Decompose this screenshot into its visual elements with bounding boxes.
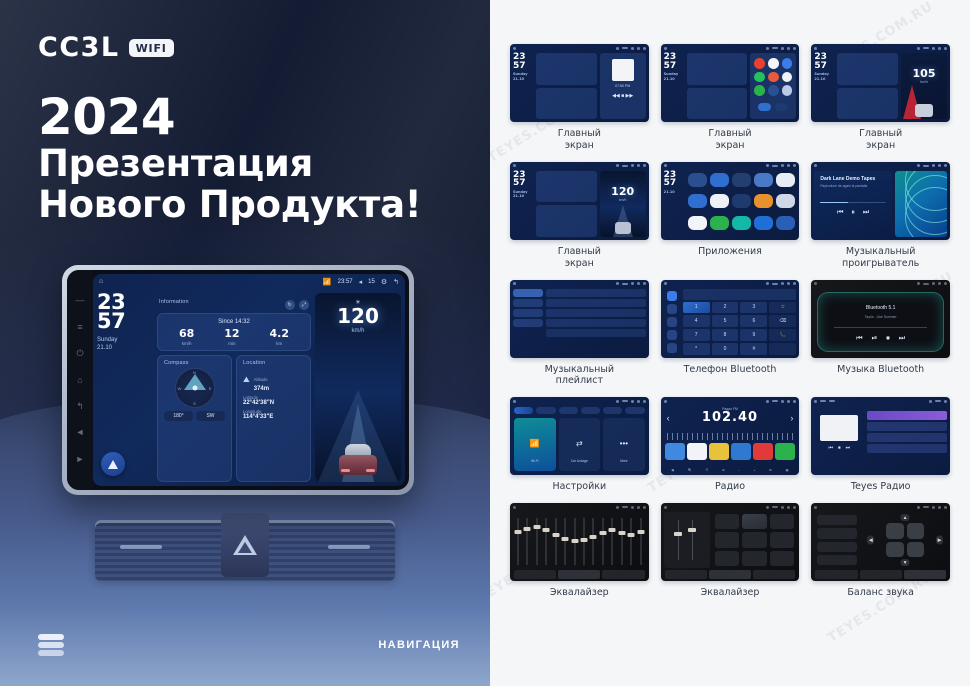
preset-1 (665, 443, 685, 460)
minus-icon: − (738, 468, 740, 472)
compass-center-dot (192, 386, 197, 391)
preset-5 (753, 443, 773, 460)
favorite-icon[interactable]: ☆ (769, 302, 796, 314)
power-hw-icon[interactable]: ⏻ (75, 348, 86, 359)
balance-up-icon[interactable]: ▲ (901, 514, 910, 521)
hardware-button-column[interactable]: — ≡ ⏻ ⌂ ↰ ◄ ► (67, 270, 93, 490)
screen-thumbnail[interactable]: 2357Sunday21.10 07:50 PM ◀◀ ■ ▶▶ (510, 44, 649, 122)
gallery-item[interactable]: Эквалайзер (661, 503, 800, 599)
eq-tab-1 (514, 570, 556, 579)
thumb-caption: Музыкальныйпроигрыватель (842, 246, 919, 270)
gallery-item[interactable]: ⏮⏹⏭ Teyes Радио (811, 397, 950, 493)
headline-line-1: Презентация (38, 143, 421, 184)
bt-progress[interactable] (834, 327, 927, 328)
key-8[interactable]: 8 (712, 329, 739, 341)
location-title: Location (243, 360, 304, 366)
thumb-caption: Эквалайзер (550, 587, 609, 599)
screen-thumbnail[interactable]: ▲ ▼ ◀ ▶ (811, 503, 950, 581)
compass-mark-n: N (193, 370, 196, 375)
screen-thumbnail[interactable]: Радио FM 102.40 ‹ › ▣🔍 (661, 397, 800, 475)
car-dashboard: — ≡ ⏻ ⌂ ↰ ◄ ► ⌂ 📶 23:57 (0, 245, 490, 686)
frequency-scale[interactable] (667, 433, 794, 440)
settings-icon: ⚙ (769, 468, 772, 472)
brand-model: CC3L (38, 32, 120, 63)
thumb-widgets (536, 53, 597, 119)
thumb-speed-unit: km/h (600, 198, 646, 202)
balance-pad[interactable]: ▲ ▼ ◀ ▶ (863, 512, 947, 568)
stop-icon: ⏹ (838, 445, 841, 451)
stop-icon[interactable]: ⏹ (886, 335, 890, 343)
compass-mark-w: W (178, 386, 182, 391)
thumb-speed-value: 120 (600, 185, 646, 198)
stat-value: 68 (179, 328, 194, 339)
layers-icon (38, 634, 64, 656)
menu-hw-icon[interactable]: ► (75, 454, 86, 465)
car-3d-model (339, 444, 377, 476)
eq-tab-3 (602, 570, 644, 579)
key-star[interactable]: * (683, 343, 710, 355)
back-icon[interactable]: ↰ (393, 278, 399, 286)
volume-up-hw-icon[interactable]: ≡ (75, 322, 86, 333)
bluetooth-icon: ⇄ (559, 439, 601, 448)
thumb-clock: 235721.10 (664, 171, 684, 237)
playlist-rows[interactable] (546, 289, 646, 355)
stat-unit: km/h (179, 341, 194, 346)
presentation-slide: CC3L WIFI 2024 Презентация Нового Продук… (0, 0, 970, 686)
mic-hw-icon[interactable]: ◄ (75, 427, 86, 438)
eq-band (590, 514, 597, 569)
teyes-station-list[interactable] (867, 411, 947, 472)
gallery-item[interactable]: 1 2 3 ☆ 4 5 6 ⌫ 7 8 9 📞 (661, 280, 800, 388)
apps-icon: ▦ (786, 468, 789, 472)
vent-light-right (328, 545, 370, 549)
teyes-controls[interactable]: ⏮⏹⏭ (814, 445, 864, 451)
track-title: Dark Lane Demo Tapes (820, 176, 886, 182)
track-artist: Reproduce de again la pantalla (820, 184, 886, 188)
preset-key (770, 532, 795, 547)
preset-key (715, 551, 740, 566)
vent-light-left (120, 545, 162, 549)
eq-band (609, 514, 616, 569)
tab-wifi (514, 407, 533, 414)
key-5[interactable]: 5 (712, 315, 739, 327)
clock-date: 21.10 (97, 344, 153, 352)
settings-tile-wifi[interactable]: 📶 Wi-Fi (514, 418, 556, 471)
unit-screen[interactable]: ⌂ 📶 23:57 ◂ 15 ⚙ ↰ (93, 274, 405, 486)
thumb-caption: Эквалайзер (701, 587, 760, 599)
thumb-caption: Главныйэкран (558, 128, 601, 152)
clock-day: Sunday (97, 336, 153, 344)
eq-band (599, 514, 606, 569)
thumb-app-grid[interactable] (687, 171, 797, 237)
play-pause-icon[interactable]: ⏯ (872, 335, 878, 343)
settings-tiles[interactable]: 📶 Wi-Fi ⇄ Car Linkage ••• More (514, 418, 645, 471)
compass-mark-e: E (209, 386, 212, 391)
preset-key (770, 551, 795, 566)
compass-mark-s: S (193, 401, 196, 406)
previous-icon[interactable]: ⏮ (856, 335, 862, 343)
stat-value: 4.2 (270, 328, 290, 339)
preset-key (742, 514, 767, 529)
preset-3 (709, 443, 729, 460)
screen-thumbnail[interactable]: Bluetooth 5.1 Tayris - Like Summer ⏮ ⏯ ⏹… (811, 280, 950, 358)
key-6[interactable]: 6 (740, 315, 767, 327)
radio-presets[interactable] (665, 443, 796, 460)
thumb-caption: Радио (715, 481, 745, 493)
eq-band (580, 514, 587, 569)
location-widget[interactable]: Location ⛰ Altitude 374m (236, 355, 311, 482)
eq-band (533, 514, 540, 569)
screen-thumbnail[interactable]: 2357Sunday21.10 120 km/h (510, 162, 649, 240)
previous-icon[interactable]: ⏮ (837, 209, 843, 217)
balance-presets[interactable] (814, 512, 860, 568)
eq-band (523, 514, 530, 569)
seat-rear-left (886, 542, 904, 558)
compass-direction: SW (196, 411, 225, 421)
equalizer-sliders[interactable] (514, 514, 645, 569)
plus-icon: + (754, 468, 756, 472)
compass-location-row: Compass N E S W (157, 355, 311, 482)
key-2[interactable]: 2 (712, 302, 739, 314)
preset-key (715, 514, 740, 529)
player-controls[interactable]: ⏮ ⏸ ⏭ (820, 209, 886, 217)
headline-year: 2024 (38, 92, 421, 143)
preset-6 (775, 443, 795, 460)
stat-value: 12 (224, 328, 239, 339)
stat-item: 4.2 km (270, 328, 290, 346)
number-field[interactable] (683, 289, 797, 300)
screen-thumbnail[interactable]: Dark Lane Demo Tapes Reproduce de again … (811, 162, 950, 240)
preset-key (715, 532, 740, 547)
status-time: 23:57 (338, 279, 353, 285)
compass-title: Compass (164, 360, 225, 366)
trip-card: Since 14:32 68 km/h 12 (157, 313, 311, 351)
thumb-clock: 2357Sunday21.10 (513, 171, 533, 237)
head-unit: — ≡ ⏻ ⌂ ↰ ◄ ► ⌂ 📶 23:57 (62, 265, 414, 495)
eq-tab-2 (709, 570, 751, 579)
car-body (339, 455, 377, 475)
equalizer-toolbar[interactable] (514, 570, 645, 579)
trip-since: Since 14:32 (164, 319, 304, 325)
eq-band (561, 514, 568, 569)
volume-icon[interactable]: ◂ (359, 278, 363, 286)
band-icon: ▣ (672, 468, 675, 472)
bal-tab-2 (860, 570, 902, 579)
home-icon[interactable]: ⌂ (99, 278, 103, 285)
gallery-item[interactable]: 2357Sunday21.10 120 km/h Главныйэкран (510, 162, 649, 270)
bluetooth-music-card: Bluetooth 5.1 Tayris - Like Summer ⏮ ⏯ ⏹… (818, 293, 943, 351)
navigation-arrow-icon (108, 460, 118, 469)
home-hw-icon[interactable]: ⌂ (75, 375, 86, 386)
eq-band (618, 514, 625, 569)
altitude-label: Altitude (254, 377, 268, 382)
information-title: Information (159, 299, 189, 305)
gallery-item[interactable]: Музыкальныйплейлист (510, 280, 649, 388)
key-4[interactable]: 4 (683, 315, 710, 327)
thumb-caption: Teyes Радио (851, 481, 911, 493)
speed-widget[interactable]: ☀ 120 km/h (315, 293, 401, 482)
screen-thumbnail[interactable] (510, 503, 649, 581)
eq-tab-1 (665, 570, 707, 579)
thumb-caption: Музыкальныйплейлист (545, 364, 615, 388)
next-icon: ⏭ (846, 445, 851, 451)
compass-dial: N E S W (175, 368, 215, 408)
backspace-icon[interactable]: ⌫ (769, 315, 796, 327)
volume-down-hw-icon[interactable]: — (75, 295, 86, 306)
stat-item: 68 km/h (179, 328, 194, 346)
speed-unit: km/h (315, 328, 401, 334)
latitude-row: Latitude 22°42'38"N (243, 395, 304, 406)
information-header: Information ↻ ⤢ (157, 293, 311, 313)
gallery-item[interactable]: 2357Sunday21.10 105 km/h Главныйэкран (811, 44, 950, 152)
screen-thumbnail[interactable]: 235721.10 (661, 162, 800, 240)
eq-band (628, 514, 635, 569)
status-bar: ⌂ 📶 23:57 ◂ 15 ⚙ ↰ (93, 274, 405, 289)
key-hash[interactable]: # (740, 343, 767, 355)
clock-widget[interactable]: 23 57 Sunday 21.10 (97, 293, 153, 482)
key-1[interactable]: 1 (683, 302, 710, 314)
compass-widget[interactable]: Compass N E S W (157, 355, 232, 482)
headline-line-2: Нового Продукта! (38, 184, 421, 225)
wifi-icon: 📶 (323, 278, 332, 286)
screen-thumbnail[interactable]: 2357Sunday21.10 (661, 44, 800, 122)
tab-sound (536, 407, 555, 414)
longitude-row: Longitude 114°4'33"E (243, 409, 304, 420)
head-unit-bezel: — ≡ ⏻ ⌂ ↰ ◄ ► ⌂ 📶 23:57 (67, 270, 409, 490)
radio-toolbar[interactable]: ▣🔍☰ ⊞−+ ⚙▦ (665, 468, 796, 472)
tab-memory (603, 407, 622, 414)
clock-minutes: 57 (97, 312, 153, 331)
seat-front-left (886, 523, 904, 539)
preset-key (770, 514, 795, 529)
radio-frequency: 102.40 (661, 411, 800, 425)
gallery-item[interactable]: 2357Sunday21.10 07:50 PM ◀◀ ■ ▶▶ Главный… (510, 44, 649, 152)
eq-band (637, 514, 644, 569)
thumb-speed-value: 105 (901, 67, 947, 80)
stat-unit: min (224, 341, 239, 346)
next-icon[interactable]: ⏭ (899, 335, 905, 343)
headline: 2024 Презентация Нового Продукта! (38, 92, 421, 226)
phone-sidebar[interactable] (664, 289, 680, 355)
gallery-item[interactable]: Dark Lane Demo Tapes Reproduce de again … (811, 162, 950, 270)
eq-band (571, 514, 578, 569)
compass-heading: 180° (164, 411, 193, 421)
thumb-clock: 2357Sunday21.10 (513, 53, 533, 119)
thumb-caption: Музыка Bluetooth (837, 364, 924, 376)
progress-bar[interactable] (820, 202, 886, 204)
settings-tile-carlink[interactable]: ⇄ Car Linkage (559, 418, 601, 471)
expand-icon[interactable]: ⤢ (299, 300, 309, 310)
screen-thumbnail[interactable]: 1 2 3 ☆ 4 5 6 ⌫ 7 8 9 📞 (661, 280, 800, 358)
hero-footer: НАВИГАЦИЯ (38, 634, 460, 656)
seat-map (886, 523, 924, 557)
trip-stats: 68 km/h 12 min (164, 328, 304, 346)
key-0[interactable]: 0 (712, 343, 739, 355)
thumb-caption: Телефон Bluetooth (684, 364, 777, 376)
information-widget[interactable]: Information ↻ ⤢ Since 14:32 (157, 293, 311, 351)
preset-key (742, 532, 767, 547)
hazard-button[interactable] (221, 513, 269, 577)
car-taillight-right (366, 469, 375, 472)
wifi-icon: 📶 (514, 439, 556, 448)
spacer (769, 343, 796, 355)
dialpad[interactable]: 1 2 3 ☆ 4 5 6 ⌫ 7 8 9 📞 (683, 302, 797, 355)
thumb-clock: 2357Sunday21.10 (814, 53, 834, 119)
screen-thumbnail[interactable]: 📶 Wi-Fi ⇄ Car Linkage ••• More (510, 397, 649, 475)
eq-icon: ⊞ (722, 468, 725, 472)
playlist-sidebar[interactable] (513, 289, 543, 355)
screen-thumbnail[interactable] (661, 503, 800, 581)
tab-system (559, 407, 578, 414)
bal-tab-1 (815, 570, 857, 579)
radio-header: Радио FM 102.40 (661, 407, 800, 425)
balance-right-icon[interactable]: ▶ (936, 536, 943, 545)
gallery-item[interactable]: Bluetooth 5.1 Tayris - Like Summer ⏮ ⏯ ⏹… (811, 280, 950, 388)
screen-thumbnail[interactable] (510, 280, 649, 358)
call-icon[interactable]: 📞 (769, 329, 796, 341)
preset-4 (731, 443, 751, 460)
screen-thumbnail[interactable]: ⏮⏹⏭ (811, 397, 950, 475)
balance-toolbar[interactable] (815, 570, 946, 579)
navigation-fab-button[interactable] (101, 452, 125, 476)
altitude-row: ⛰ Altitude 374m (243, 368, 304, 392)
bt-track: Tayris - Like Summer (818, 315, 943, 319)
thumb-status-bar (510, 44, 649, 52)
bluetooth-title: Bluetooth 5.1 (818, 305, 943, 311)
hazard-triangle-icon (233, 535, 257, 555)
screen-thumbnail[interactable]: 2357Sunday21.10 105 km/h (811, 44, 950, 122)
seat-rear-right (907, 542, 925, 558)
mountain-icon: ⛰ (243, 375, 250, 385)
eq-fader-panel[interactable] (664, 512, 710, 568)
gallery-item[interactable]: 📶 Wi-Fi ⇄ Car Linkage ••• More Настр (510, 397, 649, 493)
key-9[interactable]: 9 (740, 329, 767, 341)
eq-band (552, 514, 559, 569)
tile-label: Car Linkage (559, 459, 601, 463)
brand-logo: CC3L WIFI (38, 32, 174, 63)
thumb-caption: Приложения (698, 246, 762, 258)
thumb-app-column (750, 53, 796, 119)
eq-tab-2 (558, 570, 600, 579)
preset-key (742, 551, 767, 566)
widgets-column: Information ↻ ⤢ Since 14:32 (157, 293, 311, 482)
thumb-caption: Главныйэкран (859, 128, 902, 152)
dialpad-area[interactable]: 1 2 3 ☆ 4 5 6 ⌫ 7 8 9 📞 (683, 289, 797, 355)
thumbnail-grid: 2357Sunday21.10 07:50 PM ◀◀ ■ ▶▶ Главный… (510, 44, 950, 599)
eq-band (514, 514, 521, 569)
next-icon[interactable]: ⏭ (863, 209, 869, 217)
thumb-content: 2357Sunday21.10 07:50 PM ◀◀ ■ ▶▶ (513, 53, 646, 119)
thumb-speed-unit: km/h (901, 80, 947, 84)
latitude-value: 22°42'38"N (243, 400, 304, 406)
tile-label: More (603, 459, 645, 463)
car-taillight-left (341, 469, 350, 472)
balance-left-icon[interactable]: ◀ (867, 536, 874, 545)
equalizer-toolbar[interactable] (665, 570, 796, 579)
hero-panel: CC3L WIFI 2024 Презентация Нового Продук… (0, 0, 490, 686)
teyes-now-playing: ⏮⏹⏭ (814, 411, 864, 472)
album-art (820, 415, 858, 441)
next-station-icon[interactable]: › (790, 413, 793, 423)
tile-label: Wi-Fi (514, 459, 556, 463)
gallery-item[interactable]: 235721.10 П (661, 162, 800, 270)
compass-readout: 180° SW (164, 411, 225, 421)
status-volume: 15 (368, 279, 375, 285)
gallery-item[interactable]: 2357Sunday21.10 (661, 44, 800, 152)
stat-unit: km (270, 341, 290, 346)
thumb-speed-widget: 105 km/h (901, 53, 947, 119)
bal-tab-3 (904, 570, 946, 579)
gallery-item[interactable]: Эквалайзер (510, 503, 649, 599)
tab-display (581, 407, 600, 414)
settings-tabs[interactable] (514, 407, 645, 414)
stat-item: 12 min (224, 328, 239, 346)
preset-2 (687, 443, 707, 460)
seat-front-right (907, 523, 925, 539)
player-visualizer (895, 171, 947, 237)
longitude-value: 114°4'33"E (243, 414, 304, 420)
bt-controls[interactable]: ⏮ ⏯ ⏹ ⏭ (818, 335, 943, 343)
speed-value: 120 (315, 306, 401, 326)
eq-band (542, 514, 549, 569)
nav-label: НАВИГАЦИЯ (378, 639, 460, 651)
player-info: Dark Lane Demo Tapes Reproduce de again … (814, 171, 892, 237)
thumb-speed-widget: 120 km/h (600, 171, 646, 237)
gear-icon[interactable]: ⚙ (381, 278, 387, 286)
thumb-caption: Главныйэкран (558, 246, 601, 270)
balance-down-icon[interactable]: ▼ (901, 559, 910, 566)
altitude-value: 374m (254, 386, 269, 392)
screens-gallery: TEYES.COM.RU TEYES.COM.RU TEYES.COM.RU T… (490, 0, 970, 686)
eq-tab-3 (753, 570, 795, 579)
refresh-icon[interactable]: ↻ (285, 300, 295, 310)
wifi-badge: WIFI (129, 39, 174, 57)
eq-preset-keys[interactable] (713, 512, 797, 568)
thumb-caption: Настройки (553, 481, 607, 493)
thumb-caption: Баланс звука (847, 587, 914, 599)
key-3[interactable]: 3 (740, 302, 767, 314)
tab-other (625, 407, 644, 414)
list-icon: ☰ (706, 468, 709, 472)
key-7[interactable]: 7 (683, 329, 710, 341)
back-hw-icon[interactable]: ↰ (75, 401, 86, 412)
prev-station-icon[interactable]: ‹ (667, 413, 670, 423)
settings-tile-more[interactable]: ••• More (603, 418, 645, 471)
thumb-music-widget: 07:50 PM ◀◀ ■ ▶▶ (600, 53, 646, 119)
pause-icon[interactable]: ⏸ (851, 209, 855, 217)
more-icon: ••• (603, 439, 645, 448)
gallery-item[interactable]: ▲ ▼ ◀ ▶ Баланс звука (811, 503, 950, 599)
thumb-caption: Главныйэкран (708, 128, 751, 152)
previous-icon: ⏮ (829, 445, 834, 451)
search-icon: 🔍 (688, 468, 692, 472)
home-screen-grid: 23 57 Sunday 21.10 (93, 289, 405, 486)
thumb-clock: 2357Sunday21.10 (664, 53, 684, 119)
gallery-item[interactable]: Радио FM 102.40 ‹ › ▣🔍 (661, 397, 800, 493)
